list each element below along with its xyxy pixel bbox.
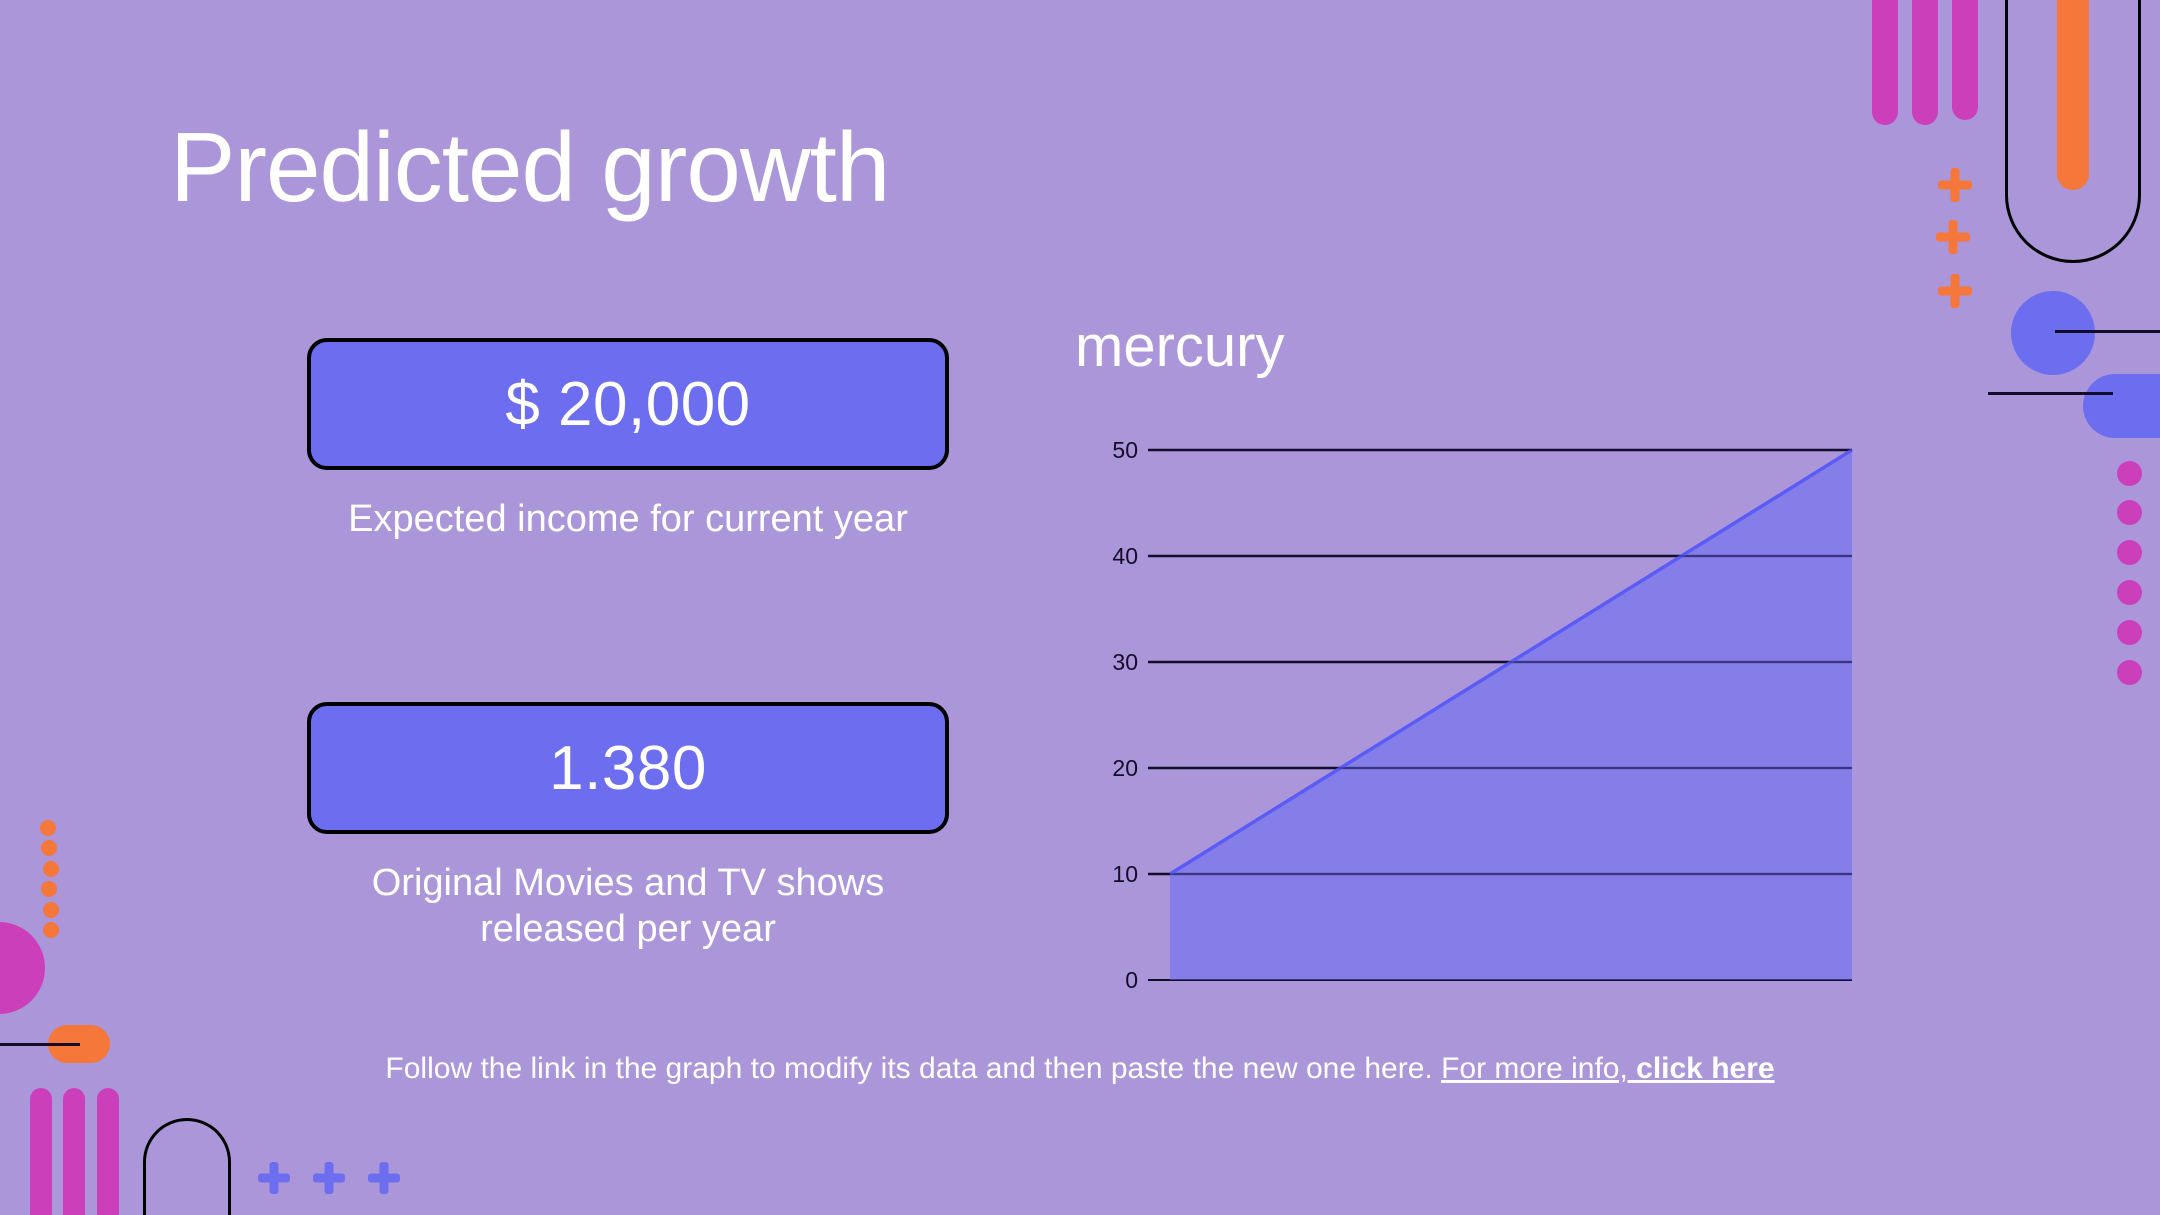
link-bold-text: click here	[1636, 1052, 1774, 1085]
decor-magenta-bar	[30, 1088, 52, 1215]
decor-magenta-dot	[2117, 500, 2142, 525]
stat-value-card[interactable]: $ 20,000	[307, 338, 949, 470]
chart-svg: 01020304050	[1060, 440, 1890, 1000]
chart-ytick-labels: 01020304050	[1112, 440, 1138, 993]
decor-magenta-dot	[2117, 540, 2142, 565]
decor-plus-icon	[313, 1162, 345, 1194]
decor-plus-icon	[1938, 168, 1972, 202]
decor-magenta-circle	[0, 922, 45, 1014]
decor-magenta-bar	[97, 1088, 119, 1215]
decor-orange-dot	[41, 840, 57, 856]
stat-caption: Original Movies and TV shows released pe…	[307, 860, 949, 953]
decor-magenta-bar	[1912, 0, 1938, 125]
svg-text:10: 10	[1112, 861, 1138, 887]
chart-title: mercury	[1075, 318, 1284, 376]
decor-line	[1988, 392, 2113, 395]
decor-magenta-dot	[2117, 620, 2142, 645]
decor-magenta-bar	[1872, 0, 1898, 125]
decor-plus-icon	[258, 1162, 290, 1194]
decor-plus-icon	[1936, 220, 1970, 254]
decor-orange-bar	[2057, 0, 2089, 190]
svg-text:50: 50	[1112, 440, 1138, 463]
stat-block-income: $ 20,000 Expected income for current yea…	[307, 338, 949, 542]
decor-line	[0, 1043, 80, 1046]
decor-magenta-bar	[1952, 0, 1978, 120]
decor-orange-dot	[43, 922, 59, 938]
decor-magenta-bar	[63, 1088, 85, 1215]
svg-text:30: 30	[1112, 649, 1138, 675]
decor-plus-icon	[368, 1162, 400, 1194]
decor-blue-circle	[2011, 291, 2095, 375]
page-title: Predicted growth	[170, 118, 889, 216]
decor-orange-dot	[43, 902, 59, 918]
chart-area-fill	[1170, 450, 1852, 980]
decor-arch-outline	[143, 1118, 231, 1215]
link-text: For more info,	[1441, 1052, 1636, 1085]
decor-orange-dot	[40, 820, 56, 836]
svg-text:40: 40	[1112, 543, 1138, 569]
stat-value-card[interactable]: 1.380	[307, 702, 949, 834]
stat-caption: Expected income for current year	[307, 496, 949, 542]
svg-text:0: 0	[1125, 967, 1138, 993]
decor-orange-dot	[41, 881, 57, 897]
decor-orange-dot	[43, 861, 59, 877]
slide-canvas: Predicted growth $ 20,000 Expected incom…	[0, 0, 2160, 1215]
footer-note: Follow the link in the graph to modify i…	[0, 1052, 2160, 1086]
decor-line	[2055, 330, 2160, 333]
more-info-link[interactable]: For more info, click here	[1441, 1052, 1775, 1085]
decor-plus-icon	[1938, 274, 1972, 308]
area-chart[interactable]: 01020304050	[1060, 440, 1890, 1000]
decor-magenta-dot	[2117, 660, 2142, 685]
decor-blue-pill	[2083, 374, 2160, 438]
footer-text: Follow the link in the graph to modify i…	[385, 1052, 1441, 1085]
chart-panel: mercury 01020304050	[1060, 318, 1890, 998]
svg-text:20: 20	[1112, 755, 1138, 781]
decor-magenta-dot	[2117, 461, 2142, 486]
decor-magenta-dot	[2117, 580, 2142, 605]
stat-block-releases: 1.380 Original Movies and TV shows relea…	[307, 702, 949, 953]
